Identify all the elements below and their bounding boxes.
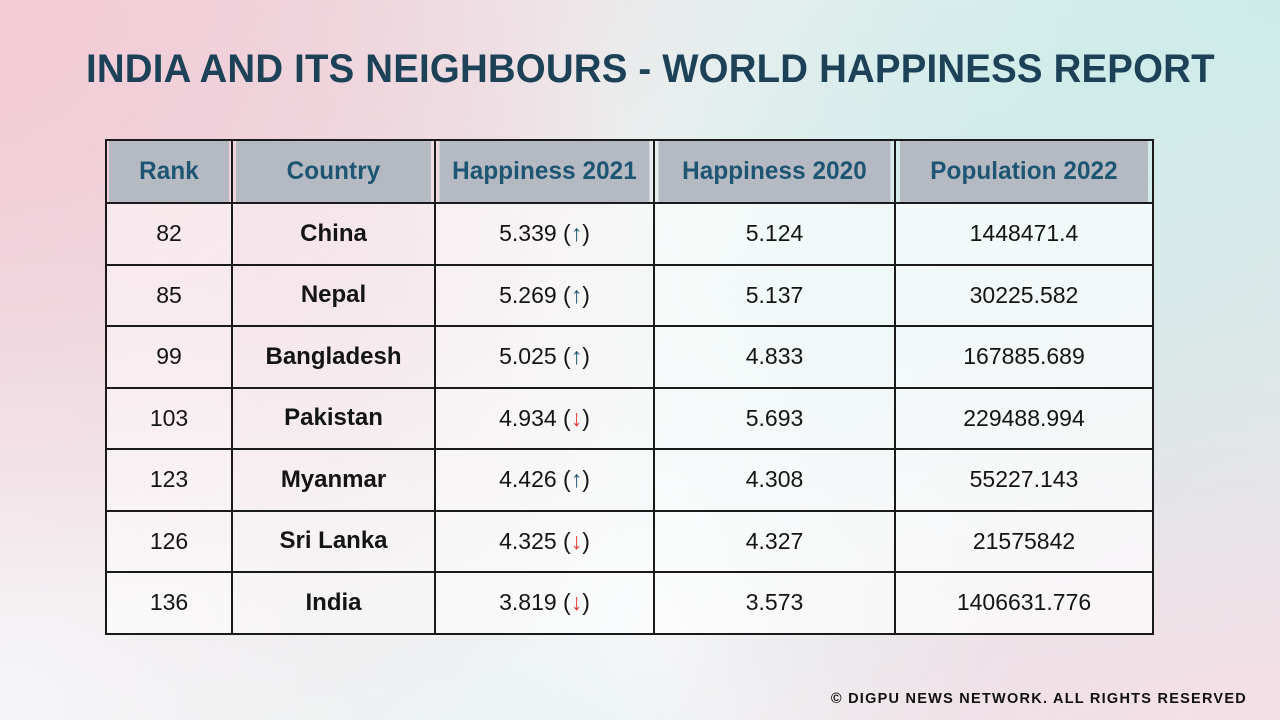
happiness-2021-value: 5.339 (↑) <box>499 220 590 247</box>
cell-happiness-2020: 4.327 <box>654 511 895 573</box>
page-title: INDIA AND ITS NEIGHBOURS - WORLD HAPPINE… <box>86 46 1152 92</box>
copyright-footer: © DIGPU NEWS NETWORK. ALL RIGHTS RESERVE… <box>831 691 1247 707</box>
happiness-2021-paren-close: ) <box>582 282 590 308</box>
cell-country: Bangladesh <box>232 326 435 388</box>
table-header-row: Rank Country Happiness 2021 Happiness 20… <box>106 140 1153 203</box>
happiness-2021-value: 4.325 (↓) <box>499 528 590 555</box>
arrow-up-icon: ↑ <box>571 343 583 369</box>
column-header-rank: Rank <box>108 140 230 203</box>
column-header-happiness-2021: Happiness 2021 <box>438 140 650 203</box>
cell-rank: 85 <box>106 265 232 327</box>
happiness-2021-paren-close: ) <box>582 220 590 246</box>
happiness-2021-value: 4.934 (↓) <box>499 405 590 432</box>
table-header: Rank Country Happiness 2021 Happiness 20… <box>106 140 1153 203</box>
happiness-2021-value: 5.269 (↑) <box>499 282 590 309</box>
table-row: 82China5.339 (↑)5.1241448471.4 <box>106 203 1153 265</box>
cell-rank: 82 <box>106 203 232 265</box>
cell-rank: 99 <box>106 326 232 388</box>
cell-happiness-2021: 5.269 (↑) <box>435 265 654 327</box>
column-header-country: Country <box>235 140 432 203</box>
cell-happiness-2021: 4.325 (↓) <box>435 511 654 573</box>
happiness-2021-paren-close: ) <box>582 343 590 369</box>
happiness-table: Rank Country Happiness 2021 Happiness 20… <box>105 139 1154 635</box>
happiness-2021-number: 4.934 ( <box>499 405 571 431</box>
happiness-2021-value: 3.819 (↓) <box>499 589 590 616</box>
arrow-down-icon: ↓ <box>571 528 583 554</box>
cell-population-2022: 30225.582 <box>895 265 1153 327</box>
cell-population-2022: 55227.143 <box>895 449 1153 511</box>
cell-rank: 136 <box>106 572 232 634</box>
arrow-up-icon: ↑ <box>571 466 583 492</box>
cell-population-2022: 1448471.4 <box>895 203 1153 265</box>
slide-canvas: INDIA AND ITS NEIGHBOURS - WORLD HAPPINE… <box>0 0 1280 720</box>
cell-rank: 126 <box>106 511 232 573</box>
cell-happiness-2020: 5.124 <box>654 203 895 265</box>
cell-country: India <box>232 572 435 634</box>
happiness-2021-number: 5.269 ( <box>499 282 571 308</box>
happiness-table-container: Rank Country Happiness 2021 Happiness 20… <box>105 139 1152 635</box>
happiness-2021-paren-close: ) <box>582 589 590 615</box>
table-row: 99Bangladesh5.025 (↑)4.833167885.689 <box>106 326 1153 388</box>
happiness-2021-paren-close: ) <box>582 528 590 554</box>
arrow-down-icon: ↓ <box>571 405 583 431</box>
happiness-2021-value: 4.426 (↑) <box>499 466 590 493</box>
happiness-2021-number: 5.339 ( <box>499 220 571 246</box>
cell-happiness-2020: 5.137 <box>654 265 895 327</box>
cell-happiness-2020: 3.573 <box>654 572 895 634</box>
table-row: 123Myanmar4.426 (↑)4.30855227.143 <box>106 449 1153 511</box>
cell-population-2022: 21575842 <box>895 511 1153 573</box>
happiness-2021-number: 4.325 ( <box>499 528 571 554</box>
happiness-2021-number: 3.819 ( <box>499 589 571 615</box>
column-header-happiness-2020: Happiness 2020 <box>658 140 892 203</box>
cell-happiness-2021: 5.339 (↑) <box>435 203 654 265</box>
table-row: 103Pakistan4.934 (↓)5.693229488.994 <box>106 388 1153 450</box>
cell-population-2022: 229488.994 <box>895 388 1153 450</box>
cell-happiness-2020: 5.693 <box>654 388 895 450</box>
cell-happiness-2021: 3.819 (↓) <box>435 572 654 634</box>
cell-happiness-2021: 4.426 (↑) <box>435 449 654 511</box>
happiness-2021-paren-close: ) <box>582 466 590 492</box>
cell-country: China <box>232 203 435 265</box>
cell-rank: 123 <box>106 449 232 511</box>
happiness-2021-number: 5.025 ( <box>499 343 571 369</box>
cell-happiness-2020: 4.833 <box>654 326 895 388</box>
arrow-up-icon: ↑ <box>571 220 583 246</box>
arrow-up-icon: ↑ <box>571 282 583 308</box>
cell-country: Myanmar <box>232 449 435 511</box>
cell-happiness-2021: 4.934 (↓) <box>435 388 654 450</box>
happiness-2021-value: 5.025 (↑) <box>499 343 590 370</box>
cell-rank: 103 <box>106 388 232 450</box>
arrow-down-icon: ↓ <box>571 589 583 615</box>
cell-happiness-2020: 4.308 <box>654 449 895 511</box>
cell-country: Pakistan <box>232 388 435 450</box>
happiness-2021-paren-close: ) <box>582 405 590 431</box>
cell-happiness-2021: 5.025 (↑) <box>435 326 654 388</box>
cell-population-2022: 1406631.776 <box>895 572 1153 634</box>
table-row: 85Nepal5.269 (↑)5.13730225.582 <box>106 265 1153 327</box>
table-row: 126Sri Lanka4.325 (↓)4.32721575842 <box>106 511 1153 573</box>
cell-population-2022: 167885.689 <box>895 326 1153 388</box>
table-body: 82China5.339 (↑)5.1241448471.485Nepal5.2… <box>106 203 1153 634</box>
cell-country: Sri Lanka <box>232 511 435 573</box>
column-header-population-2022: Population 2022 <box>899 140 1149 203</box>
cell-country: Nepal <box>232 265 435 327</box>
table-row: 136India3.819 (↓)3.5731406631.776 <box>106 572 1153 634</box>
happiness-2021-number: 4.426 ( <box>499 466 571 492</box>
